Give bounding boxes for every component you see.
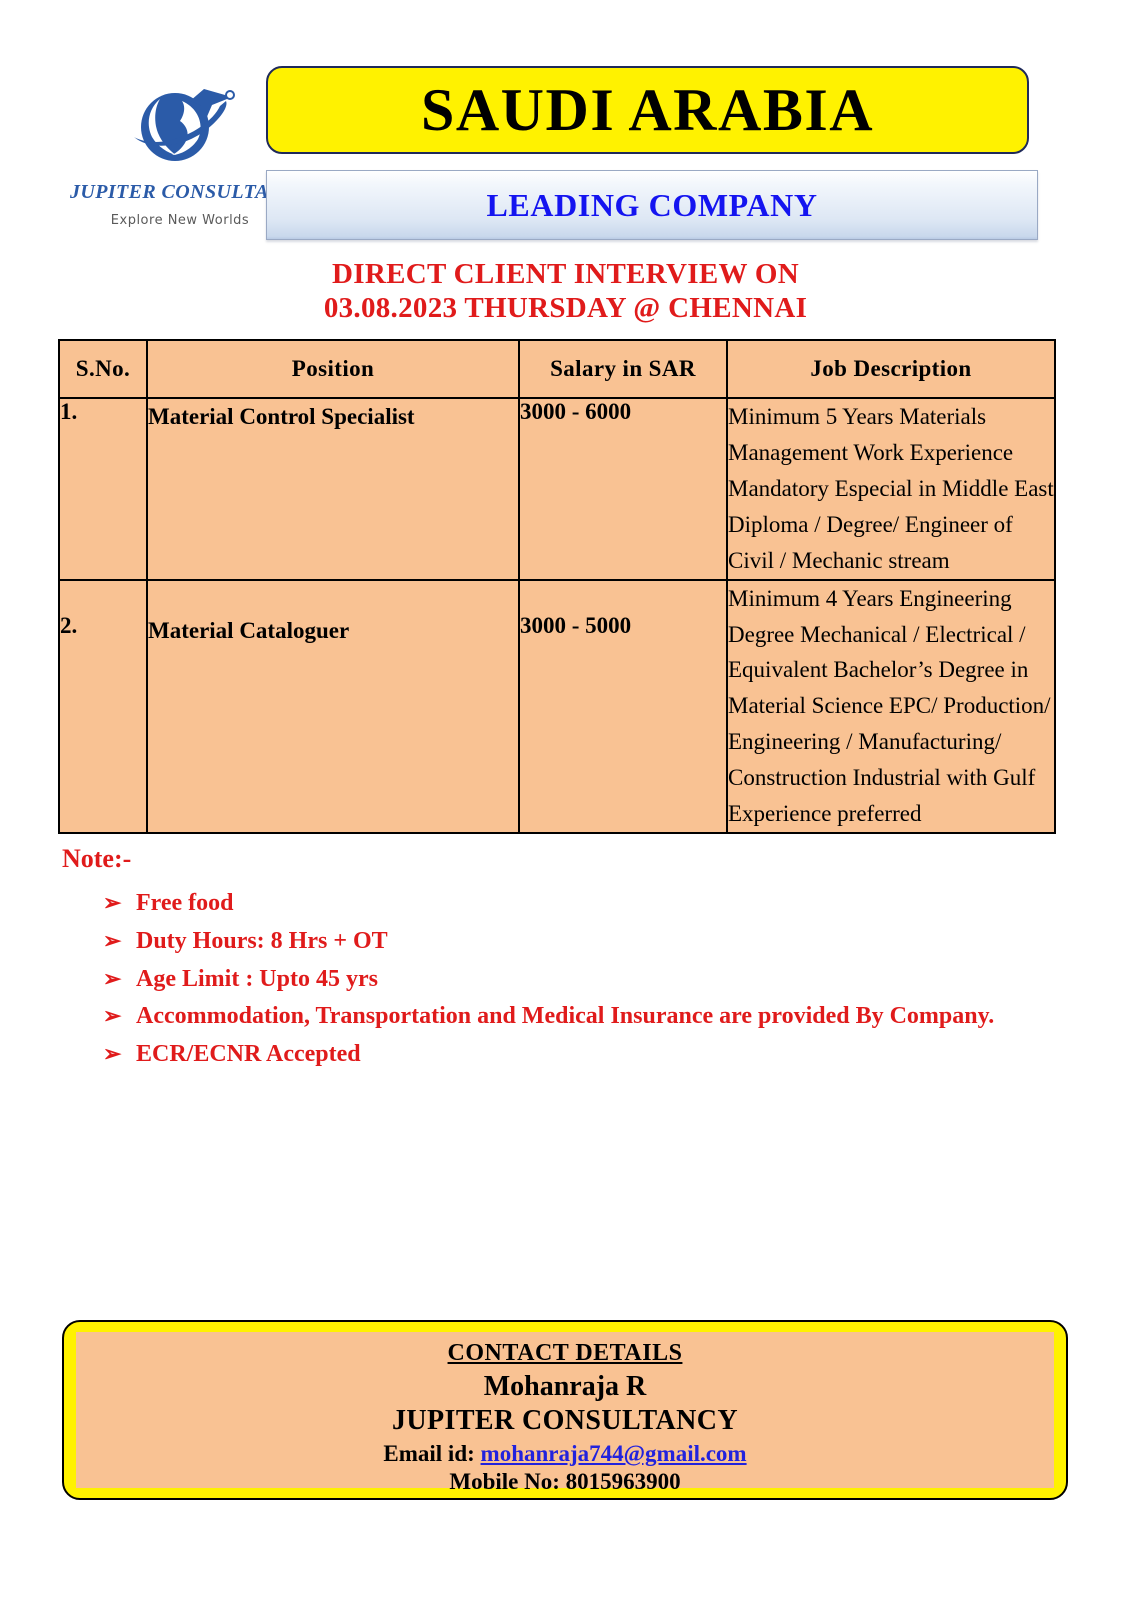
column-header-salary: Salary in SAR	[519, 340, 727, 398]
table-row: 1. Material Control Specialist 3000 - 60…	[59, 398, 1055, 579]
list-item: ➢ Free food	[0, 888, 1131, 920]
list-item: ➢ Duty Hours: 8 Hrs + OT	[0, 926, 1131, 958]
logo-company-name: JUPITER CONSULTANCY	[70, 181, 290, 204]
note-heading: Note:-	[62, 844, 1131, 874]
table-header-row: S.No. Position Salary in SAR Job Descrip…	[59, 340, 1055, 398]
column-header-description: Job Description	[727, 340, 1055, 398]
contact-details-box: CONTACT DETAILS Mohanraja R JUPITER CONS…	[62, 1320, 1068, 1500]
leading-company-text: LEADING COMPANY	[486, 187, 817, 224]
contact-details-inner: CONTACT DETAILS Mohanraja R JUPITER CONS…	[76, 1332, 1054, 1488]
note-item-text: ECR/ECNR Accepted	[136, 1041, 361, 1067]
note-item-text: Age Limit : Upto 45 yrs	[136, 966, 378, 992]
jobs-table: S.No. Position Salary in SAR Job Descrip…	[58, 339, 1056, 834]
row-position: Material Cataloguer	[147, 580, 519, 833]
interview-notice-line1: DIRECT CLIENT INTERVIEW ON	[0, 258, 1131, 292]
interview-notice: DIRECT CLIENT INTERVIEW ON 03.08.2023 TH…	[0, 258, 1131, 325]
list-item: ➢ Accommodation, Transportation and Medi…	[0, 1001, 1131, 1033]
arrow-bullet-icon: ➢	[103, 888, 121, 917]
column-header-position: Position	[147, 340, 519, 398]
contact-email-link[interactable]: mohanraja744@gmail.com	[481, 1441, 747, 1466]
row-description: Minimum 5 Years Materials Management Wor…	[727, 398, 1055, 579]
note-list: ➢ Free food ➢ Duty Hours: 8 Hrs + OT ➢ A…	[0, 888, 1131, 1072]
contact-email-label: Email id:	[383, 1441, 480, 1466]
note-item-text: Accommodation, Transportation and Medica…	[136, 1003, 994, 1029]
leading-company-banner: LEADING COMPANY	[266, 170, 1038, 240]
country-banner: SAUDI ARABIA	[266, 66, 1029, 154]
row-salary: 3000 - 5000	[519, 580, 727, 833]
contact-email-row: Email id: mohanraja744@gmail.com	[76, 1441, 1054, 1467]
table-row: 2. Material Cataloguer 3000 - 5000 Minim…	[59, 580, 1055, 833]
note-item-text: Free food	[136, 890, 234, 916]
list-item: ➢ ECR/ECNR Accepted	[0, 1039, 1131, 1071]
interview-notice-line2: 03.08.2023 THURSDAY @ CHENNAI	[0, 292, 1131, 326]
arrow-bullet-icon: ➢	[103, 926, 121, 955]
row-description: Minimum 4 Years Engineering Degree Mecha…	[727, 580, 1055, 833]
logo-tagline: Explore New Worlds	[70, 213, 290, 228]
contact-title: CONTACT DETAILS	[76, 1340, 1054, 1367]
note-item-text: Duty Hours: 8 Hrs + OT	[136, 928, 388, 954]
row-sno: 2.	[59, 580, 147, 833]
column-header-sno: S.No.	[59, 340, 147, 398]
globe-airplane-icon	[120, 75, 240, 175]
country-title: SAUDI ARABIA	[421, 80, 874, 140]
arrow-bullet-icon: ➢	[103, 964, 121, 993]
contact-company-name: JUPITER CONSULTANCY	[76, 1405, 1054, 1437]
row-sno: 1.	[59, 398, 147, 579]
contact-mobile: Mobile No: 8015963900	[76, 1469, 1054, 1495]
row-salary: 3000 - 6000	[519, 398, 727, 579]
list-item: ➢ Age Limit : Upto 45 yrs	[0, 964, 1131, 996]
job-advertisement-page: JUPITER CONSULTANCY Explore New Worlds S…	[0, 0, 1131, 1600]
company-logo-block: JUPITER CONSULTANCY Explore New Worlds	[70, 75, 290, 228]
arrow-bullet-icon: ➢	[103, 1001, 121, 1030]
row-position: Material Control Specialist	[147, 398, 519, 579]
contact-person-name: Mohanraja R	[76, 1371, 1054, 1403]
header: JUPITER CONSULTANCY Explore New Worlds S…	[0, 0, 1131, 250]
jobs-table-wrap: S.No. Position Salary in SAR Job Descrip…	[58, 339, 1054, 834]
arrow-bullet-icon: ➢	[103, 1039, 121, 1068]
